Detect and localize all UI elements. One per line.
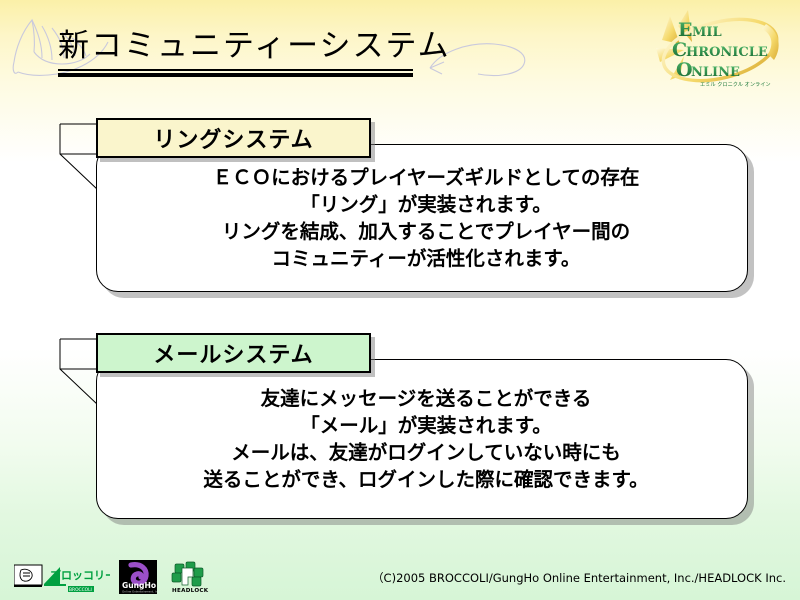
- panel-line: ＥＣＯにおけるプレイヤーズギルドとしての存在: [127, 164, 725, 191]
- eco-logo-line1: E: [678, 19, 692, 41]
- tab-mail-system-label: メールシステム: [153, 337, 313, 369]
- panel-ring: ＥＣＯにおけるプレイヤーズギルドとしての存在 「リング」が実装されます。 リング…: [96, 144, 748, 292]
- panel-line: 送ることができ、ログインした際に確認できます。: [127, 466, 725, 493]
- tab-ring-system-label: リングシステム: [153, 122, 313, 154]
- svg-text:HEADLOCK: HEADLOCK: [172, 588, 209, 594]
- copyright-text: （C)2005 BROCCOLI/GungHo Online Entertain…: [372, 570, 786, 586]
- svg-text:ブロッコリー: ブロッコリー: [50, 568, 110, 582]
- panel-line: 友達にメッセージを送ることができる: [127, 385, 725, 412]
- page-title: 新コミュニティーシステム: [58, 24, 478, 77]
- eco-logo: E MIL C HRONICLE O NLINE エミル クロニクル オンライン: [640, 4, 790, 96]
- panel-ring-text: ＥＣＯにおけるプレイヤーズギルドとしての存在 「リング」が実装されます。 リング…: [97, 164, 747, 272]
- panel-line: 「リング」が実装されます。: [127, 191, 725, 218]
- svg-text:MIL: MIL: [692, 25, 722, 40]
- panel-mail: 友達にメッセージを送ることができる 「メール」が実装されます。 メールは、友達が…: [96, 359, 748, 519]
- section-ring: ＥＣＯにおけるプレイヤーズギルドとしての存在 「リング」が実装されます。 リング…: [58, 118, 748, 298]
- svg-text:HRONICLE: HRONICLE: [686, 45, 768, 60]
- page-title-text: 新コミュニティーシステム: [58, 24, 478, 68]
- eco-logo-subtitle: エミル クロニクル オンライン: [700, 81, 771, 88]
- panel-line: コミュニティーが活性化されます。: [127, 245, 725, 272]
- tab-mail-system[interactable]: メールシステム: [96, 333, 371, 373]
- footer: ブロッコリー BROCCOLI GungHo Online Entertainm…: [0, 548, 800, 600]
- svg-text:C: C: [672, 39, 687, 61]
- panel-mail-text: 友達にメッセージを送ることができる 「メール」が実装されます。 メールは、友達が…: [97, 385, 747, 493]
- slide-canvas: 新コミュニティーシステム E MIL C: [0, 0, 800, 600]
- panel-line: リングを結成、加入することでプレイヤー間の: [127, 218, 725, 245]
- svg-text:NLINE: NLINE: [691, 65, 740, 80]
- section-mail: 友達にメッセージを送ることができる 「メール」が実装されます。 メールは、友達が…: [58, 333, 748, 525]
- svg-text:BROCCOLI: BROCCOLI: [69, 587, 92, 593]
- svg-text:Online Entertainment, Inc.: Online Entertainment, Inc.: [122, 589, 157, 593]
- panel-line: 「メール」が実装されます。: [127, 412, 725, 439]
- gungho-logo: GungHo Online Entertainment, Inc.: [119, 560, 157, 594]
- publisher-logo-row: ブロッコリー BROCCOLI GungHo Online Entertainm…: [14, 560, 212, 594]
- headlock-logo: HEADLOCK: [166, 560, 212, 594]
- title-rule-thick: [58, 73, 413, 77]
- panel-line: メールは、友達がログインしていない時にも: [127, 439, 725, 466]
- tab-ring-system[interactable]: リングシステム: [96, 118, 371, 158]
- title-rule-thin: [58, 69, 413, 71]
- broccoli-logo: ブロッコリー BROCCOLI: [14, 564, 110, 594]
